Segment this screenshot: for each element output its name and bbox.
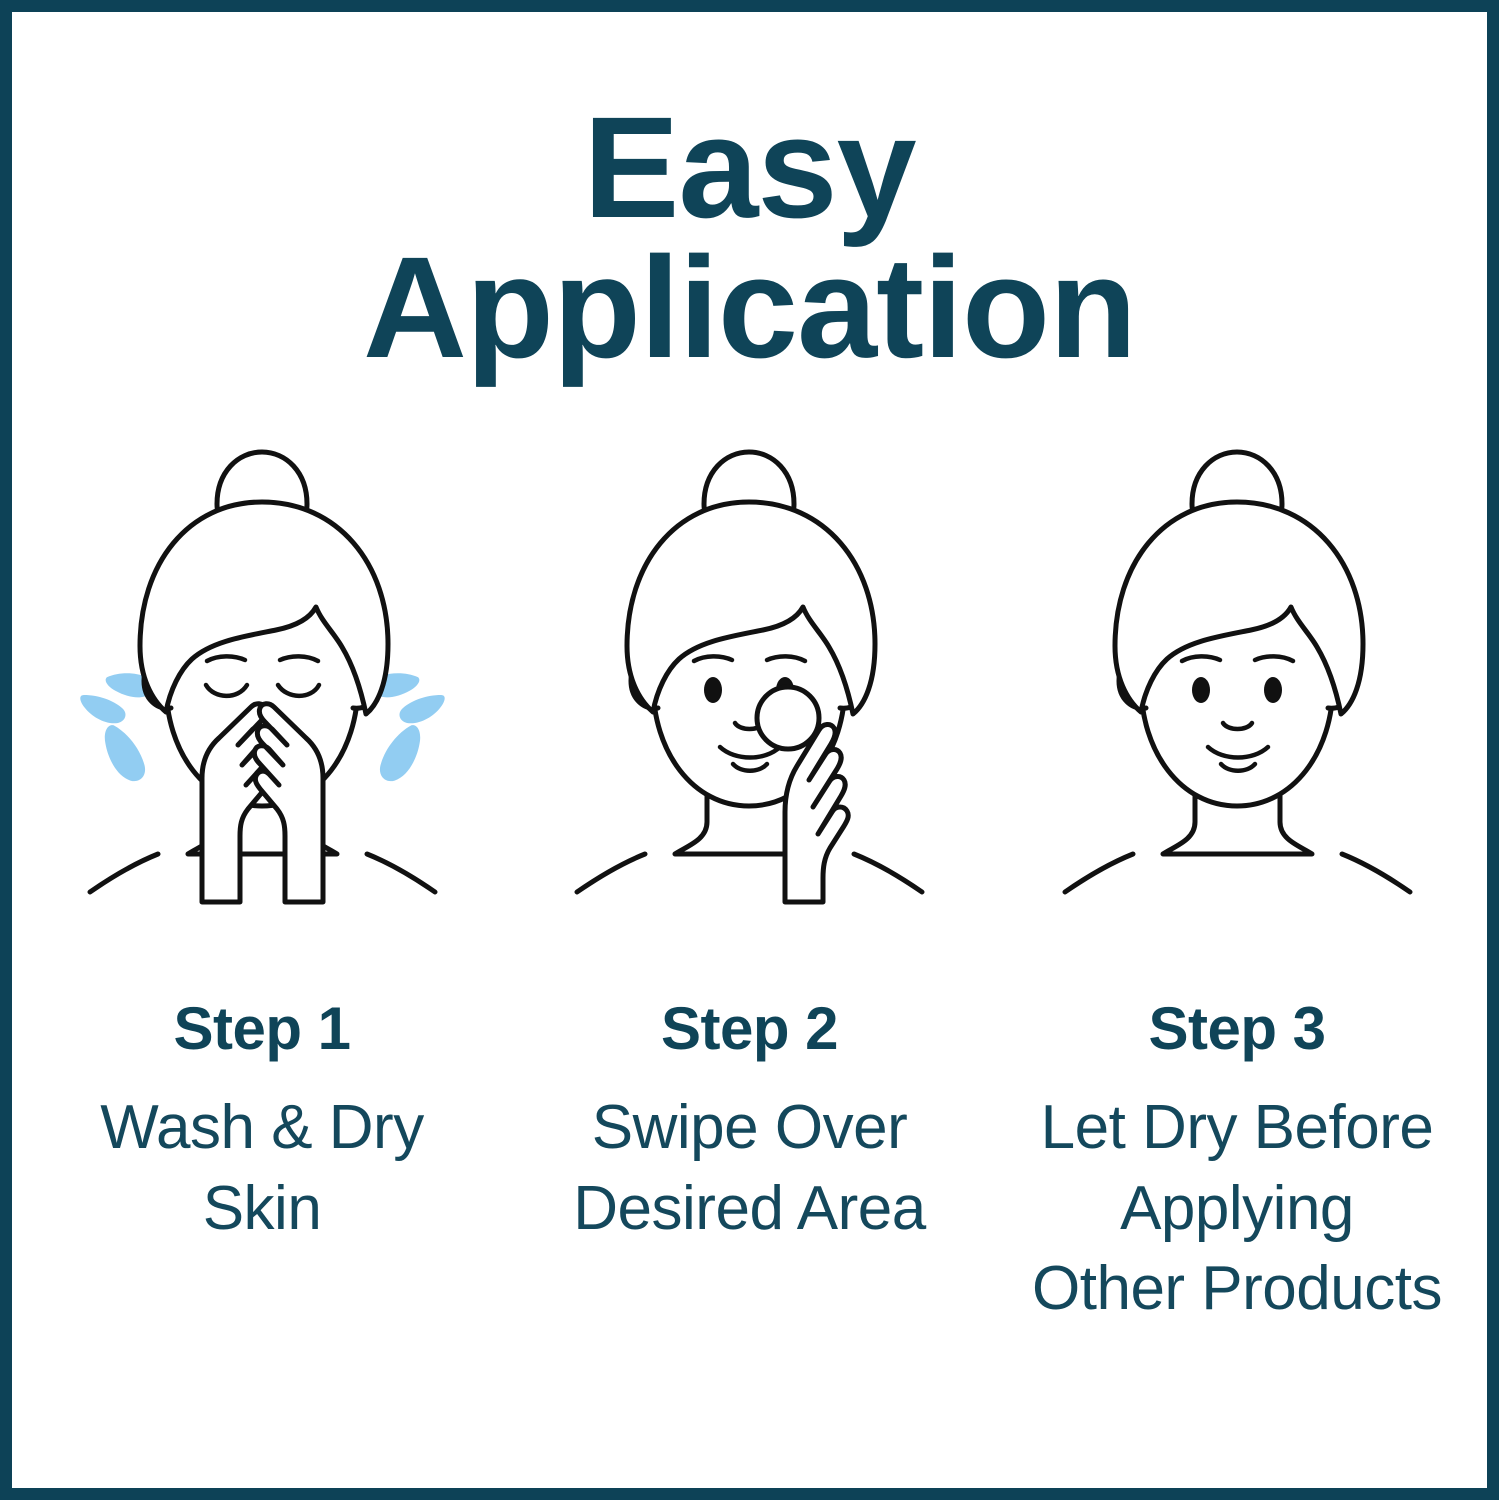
step-description: Let Dry Before Applying Other Products	[1032, 1088, 1442, 1330]
water-drop-icon	[368, 723, 433, 784]
woman-washing-face-with-water-droplets-icon	[70, 442, 455, 912]
woman-applying-cotton-pad-to-cheek-icon	[557, 442, 942, 912]
shoulder-lines	[577, 854, 922, 892]
woman-smiling-clean-face-icon	[1045, 442, 1430, 912]
steps-row: Step 1 Wash & Dry Skin	[22, 442, 1477, 1330]
page-title: Easy Application	[12, 98, 1487, 377]
step-heading: Step 3	[1148, 997, 1325, 1060]
water-drop-icon	[80, 695, 125, 723]
easy-application-infographic: Easy Application	[0, 0, 1499, 1500]
step-column-2: Step 2 Swipe Over Desired Area	[510, 442, 990, 1249]
shoulder-lines	[90, 854, 435, 892]
cotton-pad	[757, 687, 819, 749]
step-description: Wash & Dry Skin	[100, 1088, 423, 1249]
eye-right	[1264, 677, 1282, 703]
water-drop-icon	[399, 695, 444, 723]
step-heading: Step 2	[661, 997, 838, 1060]
infographic-canvas: Easy Application	[12, 12, 1487, 1488]
step-description: Swipe Over Desired Area	[573, 1088, 925, 1249]
water-drop-icon	[91, 723, 156, 784]
shoulder-lines	[1065, 854, 1410, 892]
eye-left	[1192, 677, 1210, 703]
eye-left	[704, 677, 722, 703]
step-column-1: Step 1 Wash & Dry Skin	[22, 442, 502, 1249]
step-heading: Step 1	[173, 997, 350, 1060]
step-column-3: Step 3 Let Dry Before Applying Other Pro…	[997, 442, 1477, 1330]
